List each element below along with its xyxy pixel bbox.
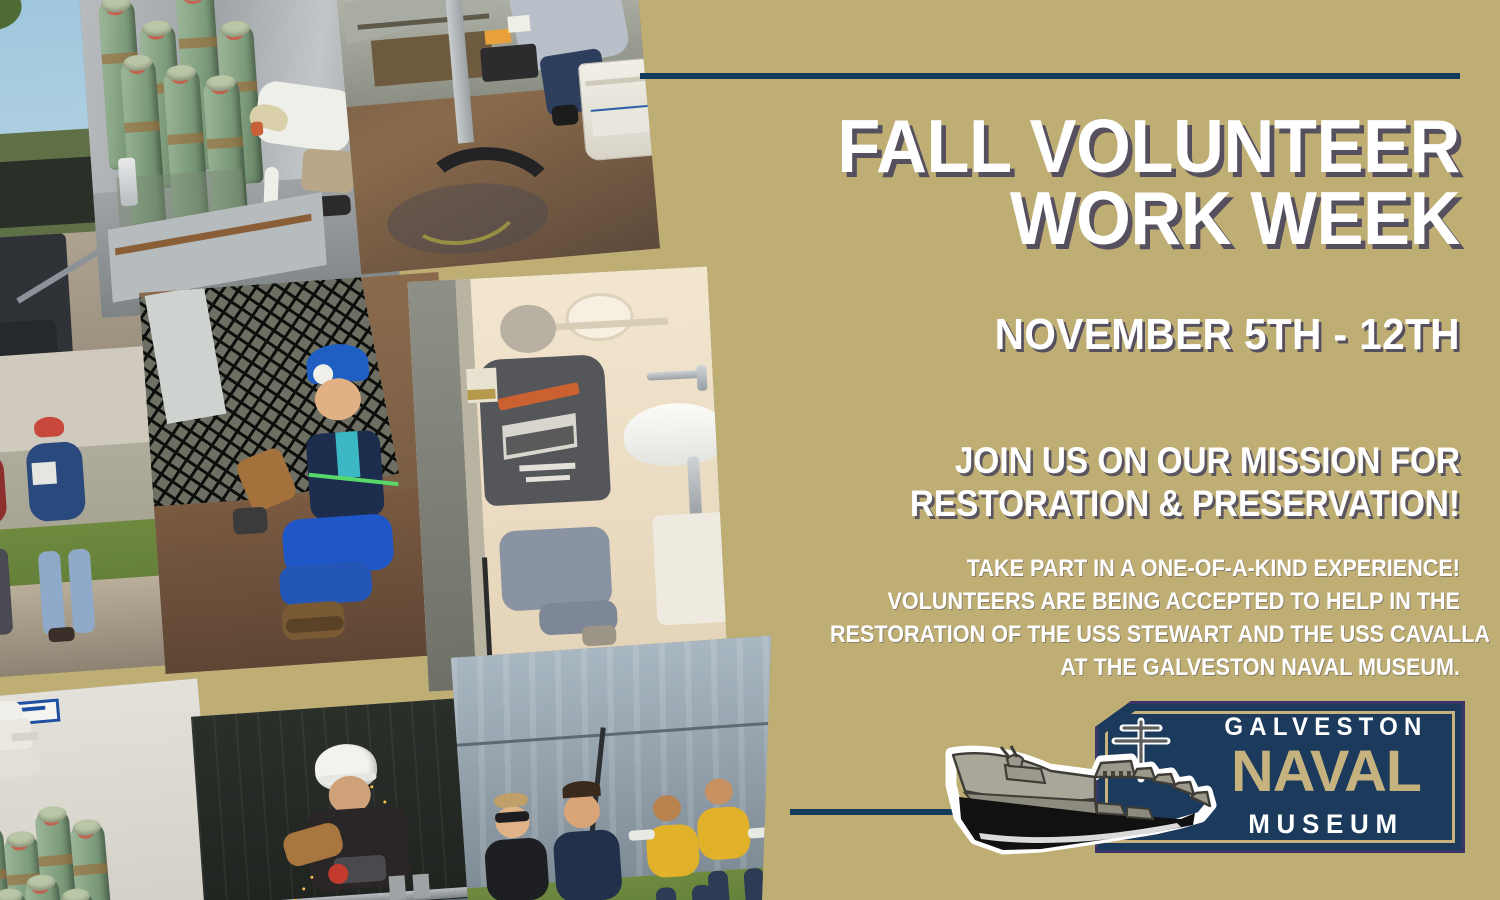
blurb-line-1: TAKE PART IN A ONE-OF-A-KIND EXPERIENCE!: [830, 552, 1460, 585]
event-description: TAKE PART IN A ONE-OF-A-KIND EXPERIENCE!…: [830, 552, 1460, 684]
photo-deck-repair: [336, 0, 660, 275]
logo-text-museum: MUSEUM: [1196, 809, 1455, 840]
blurb-line-4: AT THE GALVESTON NAVAL MUSEUM.: [830, 651, 1460, 684]
mission-line-2: RESTORATION & PRESERVATION!: [830, 483, 1460, 526]
blurb-line-2: VOLUNTEERS ARE BEING ACCEPTED TO HELP IN…: [830, 585, 1460, 618]
warship-bow-icon: [945, 713, 1235, 863]
headline-line-1: FALL VOLUNTEER: [802, 110, 1460, 182]
galveston-naval-museum-logo: GALVESTON NAVAL MUSEUM: [945, 695, 1465, 870]
poster-canvas: FALL VOLUNTEER WORK WEEK NOVEMBER 5TH - …: [0, 0, 1500, 900]
mission-statement: JOIN US ON OUR MISSION FOR RESTORATION &…: [830, 440, 1460, 526]
photo-valve-manifold: [0, 678, 222, 900]
headline-line-2: WORK WEEK: [802, 182, 1460, 254]
photo-collage: [0, 0, 800, 900]
photo-hull-painting: [451, 635, 800, 900]
mission-line-1: JOIN US ON OUR MISSION FOR: [830, 440, 1460, 483]
photo-restoration-crew: [407, 266, 728, 691]
top-divider-rule: [640, 73, 1460, 79]
logo-text-galveston: GALVESTON: [1196, 713, 1455, 742]
page-title: FALL VOLUNTEER WORK WEEK: [802, 110, 1460, 254]
blurb-line-3: RESTORATION OF THE USS STEWART AND THE U…: [830, 618, 1460, 651]
event-dates: NOVEMBER 5TH - 12TH: [816, 310, 1460, 360]
